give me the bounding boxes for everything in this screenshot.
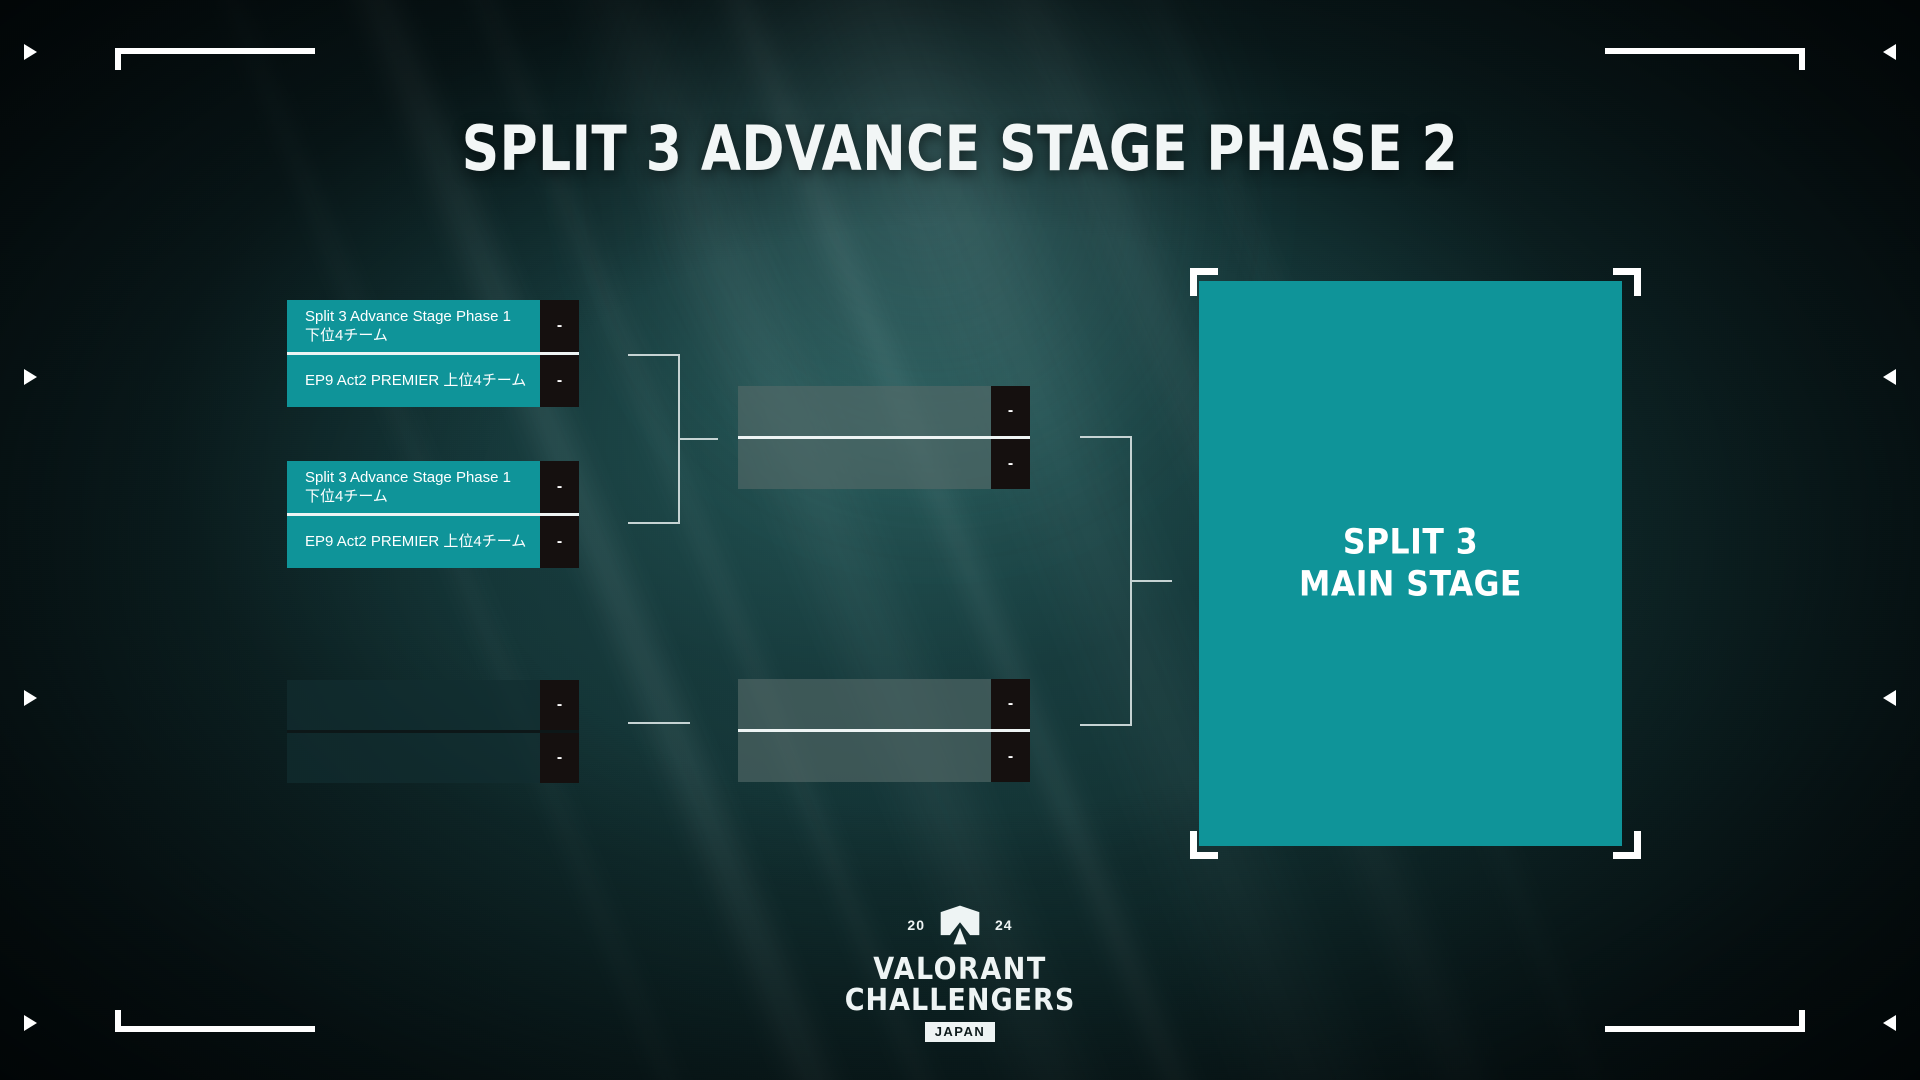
- team-name-line1: EP9 Act2 PREMIER 上位4チーム: [305, 532, 540, 551]
- frame-corner-top-right: [1605, 48, 1805, 70]
- team-name: [738, 439, 991, 489]
- match-row[interactable]: EP9 Act2 PREMIER 上位4チーム -: [287, 355, 579, 407]
- logo-year-right: 24: [995, 917, 1013, 933]
- frame-corner-bottom-left: [115, 1010, 315, 1032]
- team-name: Split 3 Advance Stage Phase 1 下位4チーム: [287, 461, 540, 513]
- arrow-left-icon: [1883, 1015, 1896, 1031]
- match-row[interactable]: -: [738, 386, 1030, 436]
- arrow-left-icon: [1883, 690, 1896, 706]
- team-name-line1: Split 3 Advance Stage Phase 1: [305, 307, 540, 326]
- frame-corner-top-left: [115, 48, 315, 70]
- arrow-right-icon: [24, 690, 37, 706]
- arrow-right-icon: [24, 369, 37, 385]
- logo-year-left: 20: [907, 917, 925, 933]
- bracket-connector-left-top: [628, 354, 738, 524]
- score-value: -: [540, 516, 579, 568]
- slide-canvas: SPLIT 3 ADVANCE STAGE PHASE 2 Split 3 Ad…: [0, 0, 1920, 1080]
- page-title: SPLIT 3 ADVANCE STAGE PHASE 2: [67, 112, 1853, 185]
- panel-corner-bottom-right: [1613, 831, 1641, 859]
- team-name: [738, 732, 991, 782]
- main-stage-label: SPLIT 3 MAIN STAGE: [1199, 521, 1622, 606]
- team-name-line1: EP9 Act2 PREMIER 上位4チーム: [305, 371, 540, 390]
- arrow-left-icon: [1883, 44, 1896, 60]
- match-row[interactable]: -: [287, 733, 579, 783]
- frame-corner-bottom-right: [1605, 1010, 1805, 1032]
- arrow-left-icon: [1883, 369, 1896, 385]
- score-value: -: [540, 680, 579, 730]
- score-value: -: [540, 300, 579, 352]
- panel-corner-bottom-left: [1190, 831, 1218, 859]
- match-2[interactable]: Split 3 Advance Stage Phase 1 下位4チーム - E…: [287, 461, 579, 568]
- team-name-line2: 下位4チーム: [305, 326, 540, 345]
- panel-corner-top-right: [1613, 268, 1641, 296]
- score-value: -: [991, 439, 1030, 489]
- match-row[interactable]: EP9 Act2 PREMIER 上位4チーム -: [287, 516, 579, 568]
- team-name: EP9 Act2 PREMIER 上位4チーム: [287, 516, 540, 568]
- match-4[interactable]: - -: [738, 386, 1030, 489]
- logo-challengers-text: CHALLENGERS: [830, 985, 1090, 1017]
- bracket-connector-final: [1080, 436, 1205, 726]
- score-value: -: [991, 386, 1030, 436]
- bracket-connector-left-bottom: [628, 722, 738, 726]
- match-row[interactable]: Split 3 Advance Stage Phase 1 下位4チーム -: [287, 300, 579, 352]
- logo-region-badge: JAPAN: [925, 1022, 996, 1042]
- arrow-right-icon: [24, 1015, 37, 1031]
- main-stage-line1: SPLIT 3: [1199, 521, 1622, 564]
- team-name: [287, 733, 540, 783]
- team-name: EP9 Act2 PREMIER 上位4チーム: [287, 355, 540, 407]
- match-1[interactable]: Split 3 Advance Stage Phase 1 下位4チーム - E…: [287, 300, 579, 407]
- team-name: [738, 386, 991, 436]
- panel-corner-top-left: [1190, 268, 1218, 296]
- main-stage-line2: MAIN STAGE: [1199, 564, 1622, 607]
- tournament-logo: 20 24 VALORANT CHALLENGERS JAPAN: [830, 899, 1090, 1042]
- score-value: -: [540, 461, 579, 513]
- arrow-right-icon: [24, 44, 37, 60]
- team-name: [287, 680, 540, 730]
- match-3[interactable]: - -: [287, 680, 579, 783]
- match-row[interactable]: -: [738, 439, 1030, 489]
- logo-valorant-text: VALORANT: [830, 955, 1090, 985]
- valorant-v-icon: [937, 902, 983, 948]
- team-name: [738, 679, 991, 729]
- team-name: Split 3 Advance Stage Phase 1 下位4チーム: [287, 300, 540, 352]
- main-stage-panel[interactable]: SPLIT 3 MAIN STAGE: [1199, 281, 1622, 846]
- match-row[interactable]: -: [287, 680, 579, 730]
- match-5[interactable]: - -: [738, 679, 1030, 782]
- score-value: -: [540, 733, 579, 783]
- match-row[interactable]: -: [738, 732, 1030, 782]
- match-row[interactable]: -: [738, 679, 1030, 729]
- match-row[interactable]: Split 3 Advance Stage Phase 1 下位4チーム -: [287, 461, 579, 513]
- score-value: -: [540, 355, 579, 407]
- team-name-line1: Split 3 Advance Stage Phase 1: [305, 468, 540, 487]
- team-name-line2: 下位4チーム: [305, 487, 540, 506]
- logo-mark-row: 20 24: [830, 899, 1090, 951]
- score-value: -: [991, 732, 1030, 782]
- score-value: -: [991, 679, 1030, 729]
